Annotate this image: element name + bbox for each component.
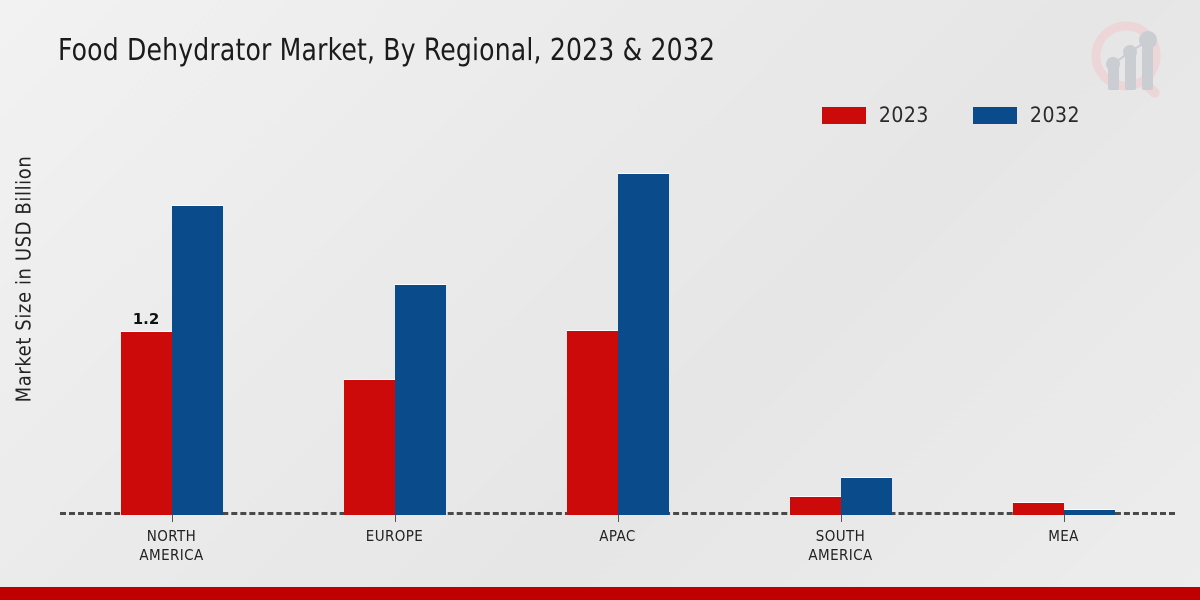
bar-pair [283,150,506,515]
bar-value-label: 1.2 [133,310,160,328]
bar-2023[interactable] [344,380,395,515]
bar-2032[interactable] [1064,510,1115,515]
bar-2032[interactable] [618,174,669,515]
legend-item-2032[interactable]: 2032 [973,103,1080,127]
bar-group: 1.2NORTHAMERICA [60,150,283,515]
bar-2032[interactable] [841,478,892,515]
bar-rect[interactable] [344,380,395,515]
chart-container: Food Dehydrator Market, By Regional, 202… [0,0,1200,600]
y-axis-title: Market Size in USD Billion [6,0,40,600]
bar-pair [952,150,1175,515]
x-axis-label: NORTHAMERICA [60,527,283,565]
bar-2032[interactable] [395,285,446,515]
legend-swatch-2023-icon [822,107,866,124]
plot-area: 1.2NORTHAMERICAEUROPEAPACSOUTHAMERICAMEA [60,150,1175,515]
legend-label-2032: 2032 [1030,103,1080,127]
x-axis-label: EUROPE [283,527,506,546]
x-axis-label-line: NORTH [60,527,283,546]
x-axis-label-line: AMERICA [729,546,952,565]
bar-rect[interactable] [841,478,892,515]
x-axis-label-line: SOUTH [729,527,952,546]
bar-2023[interactable]: 1.2 [121,332,172,515]
legend-label-2023: 2023 [879,103,929,127]
legend-item-2023[interactable]: 2023 [822,103,929,127]
bar-2023[interactable] [790,497,841,515]
chart-legend: 2023 2032 [822,103,1080,127]
bar-rect[interactable] [790,497,841,515]
x-axis-label: SOUTHAMERICA [729,527,952,565]
bar-pair [729,150,952,515]
x-axis-tick [172,515,173,522]
x-axis-label-line: AMERICA [60,546,283,565]
bar-rect[interactable] [395,285,446,515]
bar-rect[interactable] [618,174,669,515]
x-axis-label-line: MEA [952,527,1175,546]
bar-group: EUROPE [283,150,506,515]
bottom-accent-bar [0,587,1200,600]
y-axis-title-text: Market Size in USD Billion [11,156,35,403]
bar-2023[interactable] [1013,503,1064,515]
page-title: Food Dehydrator Market, By Regional, 202… [58,33,715,68]
x-axis-tick [618,515,619,522]
x-axis-tick [395,515,396,522]
bar-pair [506,150,729,515]
x-axis-tick [841,515,842,522]
bar-pair: 1.2 [60,150,283,515]
bar-rect[interactable] [121,332,172,515]
x-axis-label: MEA [952,527,1175,546]
bar-group: APAC [506,150,729,515]
x-axis-label-line: EUROPE [283,527,506,546]
legend-swatch-2032-icon [973,107,1017,124]
bar-rect[interactable] [172,206,223,515]
bar-rect[interactable] [1013,503,1064,515]
x-axis-label: APAC [506,527,729,546]
bar-rect[interactable] [1064,510,1115,515]
bar-group: SOUTHAMERICA [729,150,952,515]
bar-2023[interactable] [567,331,618,515]
bar-groups: 1.2NORTHAMERICAEUROPEAPACSOUTHAMERICAMEA [60,150,1175,515]
watermark-logo [1082,12,1178,108]
x-axis-label-line: APAC [506,527,729,546]
bar-rect[interactable] [567,331,618,515]
bar-2032[interactable] [172,206,223,515]
x-axis-tick [1064,515,1065,522]
bar-group: MEA [952,150,1175,515]
